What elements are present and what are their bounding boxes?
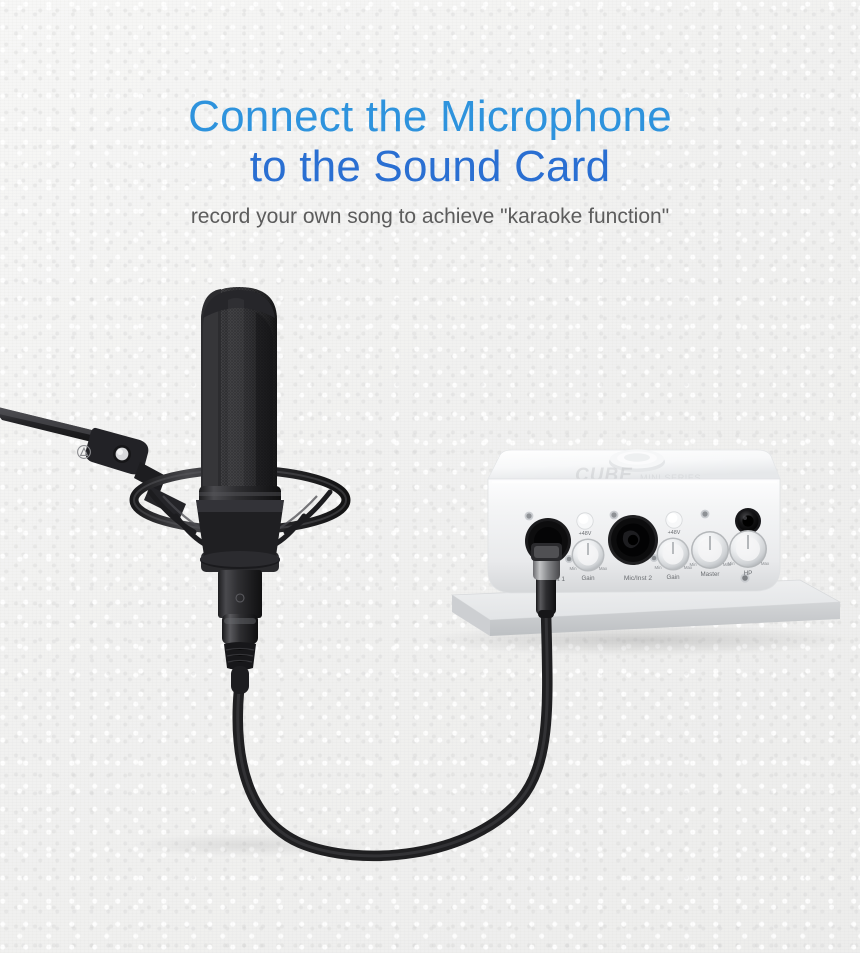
phantom-power-button-2[interactable] xyxy=(666,512,682,528)
label-gain1-max: Max xyxy=(599,566,608,571)
label-hp-min: Min xyxy=(727,561,735,566)
label-gain2-min: Min xyxy=(654,565,662,570)
page-title-line-1: Connect the Microphone xyxy=(0,92,860,142)
label-hp-max: Max xyxy=(761,561,770,566)
label-mic-inst-2: Mic/Inst 2 xyxy=(624,575,653,582)
input-jack-2[interactable] xyxy=(608,515,658,565)
label-gain-1: Gain xyxy=(581,575,595,582)
label-gain-2: Gain xyxy=(666,574,680,581)
label-master-min: Min xyxy=(689,562,697,567)
page-subtitle: record your own song to achieve "karaoke… xyxy=(0,204,860,230)
product-infographic-page: Connect the Microphone to the Sound Card… xyxy=(0,0,860,953)
microphone-head xyxy=(201,287,277,501)
phantom-power-button-1[interactable] xyxy=(577,513,593,529)
label-gain1-min: Min xyxy=(569,566,577,571)
label-phantom-1: +48V xyxy=(579,531,592,537)
page-title-line-2: to the Sound Card xyxy=(0,142,860,192)
label-headphone: HP xyxy=(744,570,753,577)
xlr-plug-microphone xyxy=(222,614,258,694)
label-master: Master xyxy=(701,571,720,578)
label-phantom-2: +48V xyxy=(668,530,681,536)
header-block: Connect the Microphone to the Sound Card… xyxy=(0,92,860,230)
sound-card-device[interactable]: CUBE MINI SERIES xyxy=(488,450,780,594)
